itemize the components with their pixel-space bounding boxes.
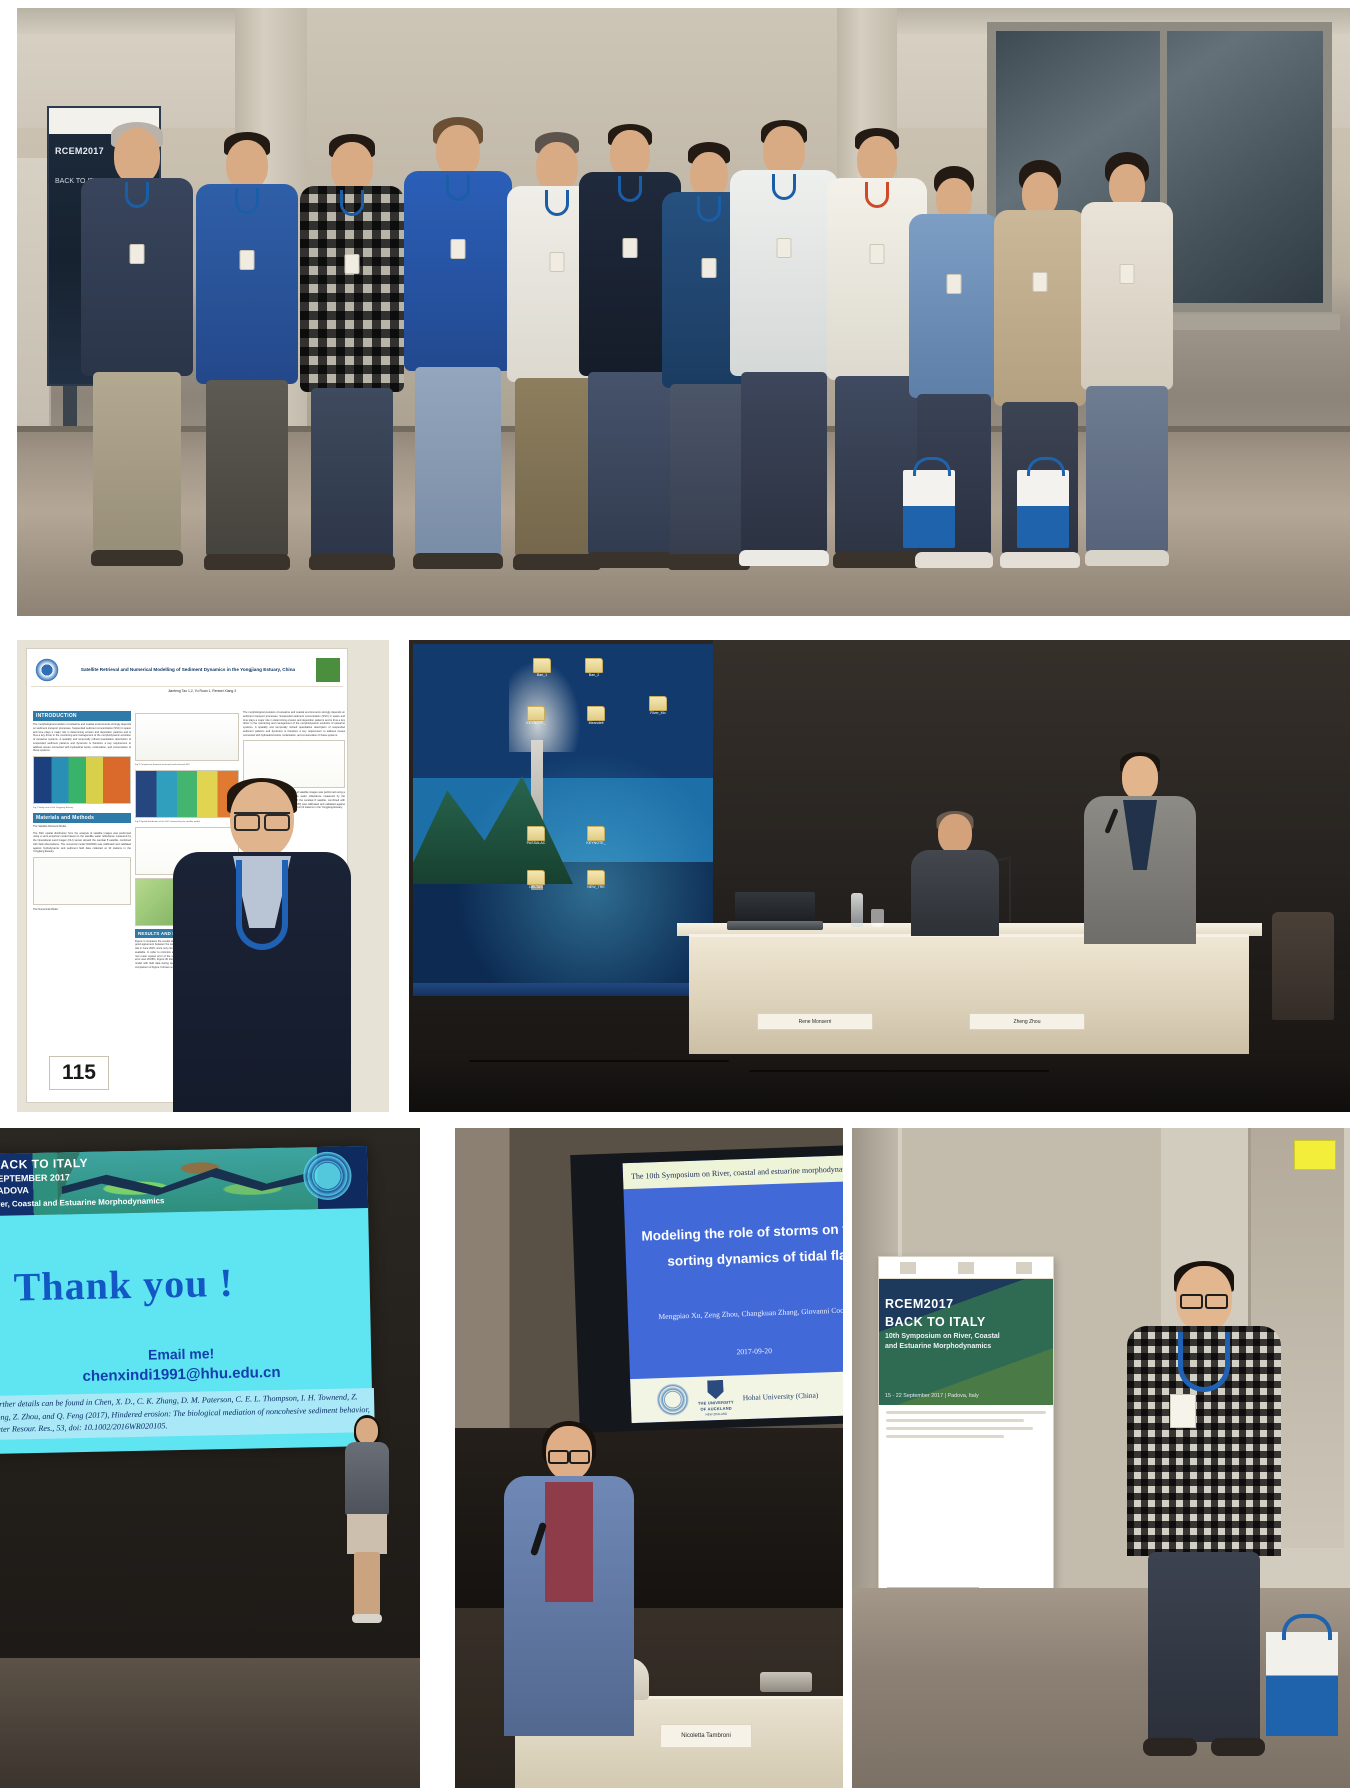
- desktop-icon-keynote-1[interactable]: KEYNOTE_: [525, 706, 547, 726]
- name-badge: [702, 258, 717, 278]
- eyeglasses-icon: [1180, 1294, 1228, 1306]
- name-badge: [623, 238, 638, 258]
- standing-speaker: [1081, 756, 1199, 944]
- file-icon: [527, 870, 545, 885]
- torso: [730, 170, 838, 376]
- torso: [909, 214, 999, 398]
- legs: [588, 372, 672, 554]
- torso: [404, 171, 512, 371]
- trousers: [1148, 1552, 1260, 1742]
- poster-number-badge: 115: [49, 1056, 109, 1090]
- attendee-2: [195, 132, 299, 572]
- projection-screen-frame: The 10th Symposium on River, coastal and…: [570, 1145, 843, 1433]
- head: [857, 136, 897, 184]
- side-chair: [1272, 912, 1334, 1020]
- poster-section-heading-introduction: INTRODUCTION: [33, 711, 131, 721]
- desktop-icon-label: PASSALAC: [525, 842, 547, 846]
- poster-subheading-satellite: The Satellite Retrieval Model: [33, 825, 131, 829]
- poster-figure-scatter: [135, 713, 239, 761]
- stage-floor: [0, 1658, 420, 1788]
- lanyard: [1178, 1332, 1230, 1392]
- name-badge: [345, 254, 360, 274]
- sponsor-logo-icon: [1016, 1262, 1032, 1274]
- head: [436, 125, 480, 177]
- hohai-seal-icon: [303, 1151, 352, 1200]
- sponsor-logo-icon: [900, 1262, 916, 1274]
- legs: [93, 372, 181, 552]
- thank-you-slide-photo: BACK TO ITALY SEPTEMBER 2017 PADOVA Rive…: [0, 1128, 420, 1788]
- signboard-subtitle-line-1: 10th Symposium on River, Coastal: [885, 1333, 1000, 1340]
- conference-tote-bag-2: [1017, 470, 1069, 548]
- nameplate-chair: Rene Monserri: [757, 1013, 873, 1030]
- signboard-text-line: [886, 1419, 1024, 1422]
- desktop-icon-label: Ban_1: [531, 674, 553, 678]
- desktop-icon-label: NEW_TRE: [585, 886, 607, 890]
- shoes: [1000, 552, 1080, 568]
- attendee-4: [403, 117, 513, 572]
- photo-collage: RCEM2017 BACK TO ITALY: [0, 0, 1367, 1788]
- seated-chairperson: [909, 814, 1001, 934]
- file-icon: [533, 658, 551, 673]
- poster-header: Satellite Retrieval and Numerical Modell…: [31, 653, 343, 687]
- floor-cable-2: [749, 1070, 1049, 1072]
- desktop-icon-passalac[interactable]: PASSALAC: [525, 826, 547, 846]
- nameplate-session-chair: Nicoletta Tambroni: [660, 1724, 752, 1748]
- attendee-12: [1079, 152, 1175, 572]
- shoes: [915, 552, 993, 568]
- desktop-icon-label: KEYNOTE_: [585, 842, 607, 846]
- signboard-header: RCEM2017 BACK TO ITALY 10th Symposium on…: [879, 1279, 1053, 1405]
- head: [610, 130, 650, 178]
- desktop-icon-deltas[interactable]: DELTAS: [525, 870, 547, 890]
- lanyard: [236, 860, 288, 950]
- head: [763, 126, 805, 176]
- laptop-keyboard: [727, 921, 823, 930]
- name-badge: [1033, 272, 1048, 292]
- lecture-hall-projection-photo: Ban_1 Ban_2 KEYNOTE_ Meandeti River_Mo P…: [409, 640, 1350, 1112]
- microphone-stand: [1009, 860, 1011, 922]
- signboard-title-line-1: RCEM2017: [885, 1297, 954, 1311]
- lanyard: [697, 196, 721, 222]
- desktop-icon-meandeti[interactable]: Meandeti: [585, 706, 607, 726]
- water-bottle: [851, 893, 863, 927]
- name-badge: [130, 244, 145, 264]
- poster-section-body-introduction: The morphological evolution of estuarine…: [33, 723, 131, 753]
- group-of-attendees: [17, 102, 1350, 572]
- drinking-glass: [871, 909, 884, 927]
- desktop-icon-label: Meandeti: [585, 722, 607, 726]
- laptop-screen: [735, 892, 815, 922]
- banner-line-back-to-italy: BACK TO ITALY: [0, 1156, 88, 1172]
- conference-logo-icon: [316, 658, 340, 682]
- head: [226, 140, 268, 190]
- desktop-icon-river-mo[interactable]: River_Mo: [647, 696, 669, 716]
- group-photo-conference-hall: RCEM2017 BACK TO ITALY: [17, 8, 1350, 616]
- signboard-text-line: [886, 1435, 1004, 1438]
- torso: [196, 184, 298, 384]
- hohai-logo-icon: [34, 657, 60, 683]
- poster-figure-diagram: [33, 857, 131, 905]
- name-badge: [240, 250, 255, 270]
- head: [114, 128, 160, 184]
- poster-figure-map-1: [33, 756, 131, 804]
- shoes: [352, 1614, 382, 1623]
- thank-you-heading: Thank you !: [13, 1259, 234, 1311]
- sponsor-logo-icon: [958, 1262, 974, 1274]
- eyeglasses-icon: [234, 812, 290, 826]
- file-icon: [585, 658, 603, 673]
- desktop-icon-keynote-2[interactable]: KEYNOTE_: [585, 826, 607, 846]
- projected-thank-you-slide: BACK TO ITALY SEPTEMBER 2017 PADOVA Rive…: [0, 1146, 373, 1454]
- legs: [311, 388, 393, 558]
- signboard-sponsor-strip: [879, 1257, 1053, 1279]
- name-badge: [777, 238, 792, 258]
- signboard-text-line: [886, 1411, 1046, 1414]
- name-badge: [550, 252, 565, 272]
- floor-cable-1: [469, 1060, 729, 1062]
- desktop-icon-label: Ban_2: [583, 674, 605, 678]
- desktop-icon-label: River_Mo: [647, 712, 669, 716]
- poster-figure-caption-1: Fig.1 Study area of the Yongjiang Estuar…: [33, 807, 131, 810]
- poster-subheading-numerical: The Numerical Model: [33, 908, 131, 912]
- desktop-icon-ban-1[interactable]: Ban_1: [531, 658, 553, 678]
- shoes: [204, 554, 290, 570]
- poster-presentation-photo: Satellite Retrieval and Numerical Modell…: [17, 640, 389, 1112]
- lanyard: [545, 190, 569, 216]
- shoes: [739, 550, 829, 566]
- legs: [415, 367, 501, 555]
- laptop[interactable]: [727, 896, 823, 936]
- conference-tote-bag: [1266, 1632, 1338, 1736]
- lanyard: [446, 175, 470, 201]
- file-icon: [649, 696, 667, 711]
- poster-right-intro-text: The morphological evolution of estuarine…: [243, 711, 345, 737]
- slide-date: 2017-09-20: [635, 1343, 843, 1360]
- slide-authors: Mengpiao Xu, Zeng Zhou, Changkuan Zhang,…: [634, 1305, 843, 1322]
- female-speaker-with-microphone: [501, 1426, 637, 1736]
- banner-line-city: PADOVA: [0, 1185, 29, 1196]
- name-badge: [870, 244, 885, 264]
- lanyard: [125, 182, 149, 208]
- signboard-subtitle-line-2: and Estuarine Morphodynamics: [885, 1343, 991, 1350]
- conference-tote-bag-1: [903, 470, 955, 548]
- poster-authors: Jianfeng Tao 1,2, Yu Ruan 1, Renwei Xian…: [67, 689, 337, 694]
- legs: [741, 372, 827, 552]
- panel-desk: [689, 934, 1249, 1054]
- shield-icon: [707, 1380, 724, 1400]
- lanyard: [772, 174, 796, 200]
- conference-signage-photo: RCEM2017 BACK TO ITALY 10th Symposium on…: [852, 1128, 1350, 1788]
- torso: [1081, 202, 1173, 390]
- slide-footer-affiliation: Hohai University (China): [743, 1390, 819, 1402]
- desktop-icon-ban-2[interactable]: Ban_2: [583, 658, 605, 678]
- shoes: [1143, 1738, 1265, 1756]
- shoes: [1085, 550, 1169, 566]
- ua-logo-line-3: NEW ZEALAND: [705, 1412, 727, 1417]
- stage-floor: [409, 1054, 1350, 1112]
- projected-desktop-screen: Ban_1 Ban_2 KEYNOTE_ Meandeti River_Mo P…: [413, 644, 713, 996]
- email-address: chenxindi1991@hhu.edu.cn: [0, 1362, 372, 1387]
- attendee-8: [729, 120, 839, 572]
- legs: [354, 1552, 380, 1616]
- name-badge: [1170, 1394, 1196, 1428]
- poster-section-heading-materials: Materials and Methods: [33, 813, 131, 823]
- lanyard: [235, 188, 259, 214]
- rcem-title-slide: The 10th Symposium on River, coastal and…: [623, 1155, 843, 1424]
- torso: [345, 1442, 389, 1516]
- shoes: [91, 550, 183, 566]
- file-icon: [587, 870, 605, 885]
- lanyard: [618, 176, 642, 202]
- name-badge: [1120, 264, 1135, 284]
- attendee-3: [299, 134, 405, 572]
- signboard-dates: 15 - 22 September 2017 | Padova, Italy: [885, 1393, 979, 1399]
- shoes: [413, 553, 503, 569]
- poster-presenter: [167, 782, 357, 1112]
- desktop-icon-label: KEYNOTE_: [525, 722, 547, 726]
- torso: [994, 210, 1086, 406]
- slide-footer: THE UNIVERSITY OF AUCKLAND NEW ZEALAND H…: [630, 1370, 843, 1423]
- slide-header-banner: BACK TO ITALY SEPTEMBER 2017 PADOVA Rive…: [0, 1146, 368, 1216]
- desktop-taskbar[interactable]: 10:58 19/09/2017: [413, 983, 713, 996]
- desktop-icon-new-tre[interactable]: NEW_TRE: [585, 870, 607, 890]
- torso: [911, 850, 999, 936]
- poster-section-body-materials: The SSC spatial distribution from the an…: [33, 832, 131, 855]
- name-badge: [947, 274, 962, 294]
- university-of-auckland-logo: THE UNIVERSITY OF AUCKLAND NEW ZEALAND: [697, 1380, 734, 1417]
- file-icon: [587, 706, 605, 721]
- torso: [300, 186, 404, 392]
- projector: [760, 1672, 812, 1692]
- banner-line-date: SEPTEMBER 2017: [0, 1172, 70, 1184]
- legs: [206, 380, 288, 556]
- signboard-text-line: [886, 1427, 1033, 1430]
- slide-title-line-2: sorting dynamics of tidal flats: [656, 1247, 843, 1269]
- nameplate-speaker: Zheng Zhou: [969, 1013, 1085, 1030]
- yellow-warning-sign: [1294, 1140, 1336, 1170]
- attendee-1: [77, 122, 197, 572]
- rcem-title-slide-photo: The 10th Symposium on River, coastal and…: [455, 1128, 843, 1788]
- poster-column-left: INTRODUCTION The morphological evolution…: [33, 711, 131, 1096]
- poster-figure-caption-2: Fig.2 Comparison between measured and re…: [135, 764, 239, 767]
- slide-title-line-1: Modeling the role of storms on the: [635, 1221, 843, 1244]
- lanyard: [340, 190, 364, 216]
- inner-top: [545, 1482, 593, 1602]
- slide-header-text: The 10th Symposium on River, coastal and…: [623, 1155, 843, 1190]
- lanyard: [865, 182, 889, 208]
- signboard-title-line-2: BACK TO ITALY: [885, 1315, 986, 1329]
- file-icon: [527, 826, 545, 841]
- desktop-icon-label: DELTAS: [525, 886, 547, 890]
- legs: [1086, 386, 1168, 552]
- shoes: [309, 554, 395, 570]
- hohai-seal-icon: [656, 1383, 689, 1416]
- name-badge: [451, 239, 466, 259]
- eyeglasses-icon: [548, 1450, 590, 1461]
- head: [1122, 756, 1158, 800]
- head: [356, 1418, 378, 1444]
- poster-title: Satellite Retrieval and Numerical Modell…: [64, 667, 312, 673]
- reference-citation: Further details can be found in Chen, X.…: [0, 1388, 375, 1440]
- head: [536, 142, 578, 192]
- skirt: [347, 1514, 387, 1554]
- file-icon: [527, 706, 545, 721]
- head: [331, 142, 373, 192]
- file-icon: [587, 826, 605, 841]
- head: [938, 814, 972, 854]
